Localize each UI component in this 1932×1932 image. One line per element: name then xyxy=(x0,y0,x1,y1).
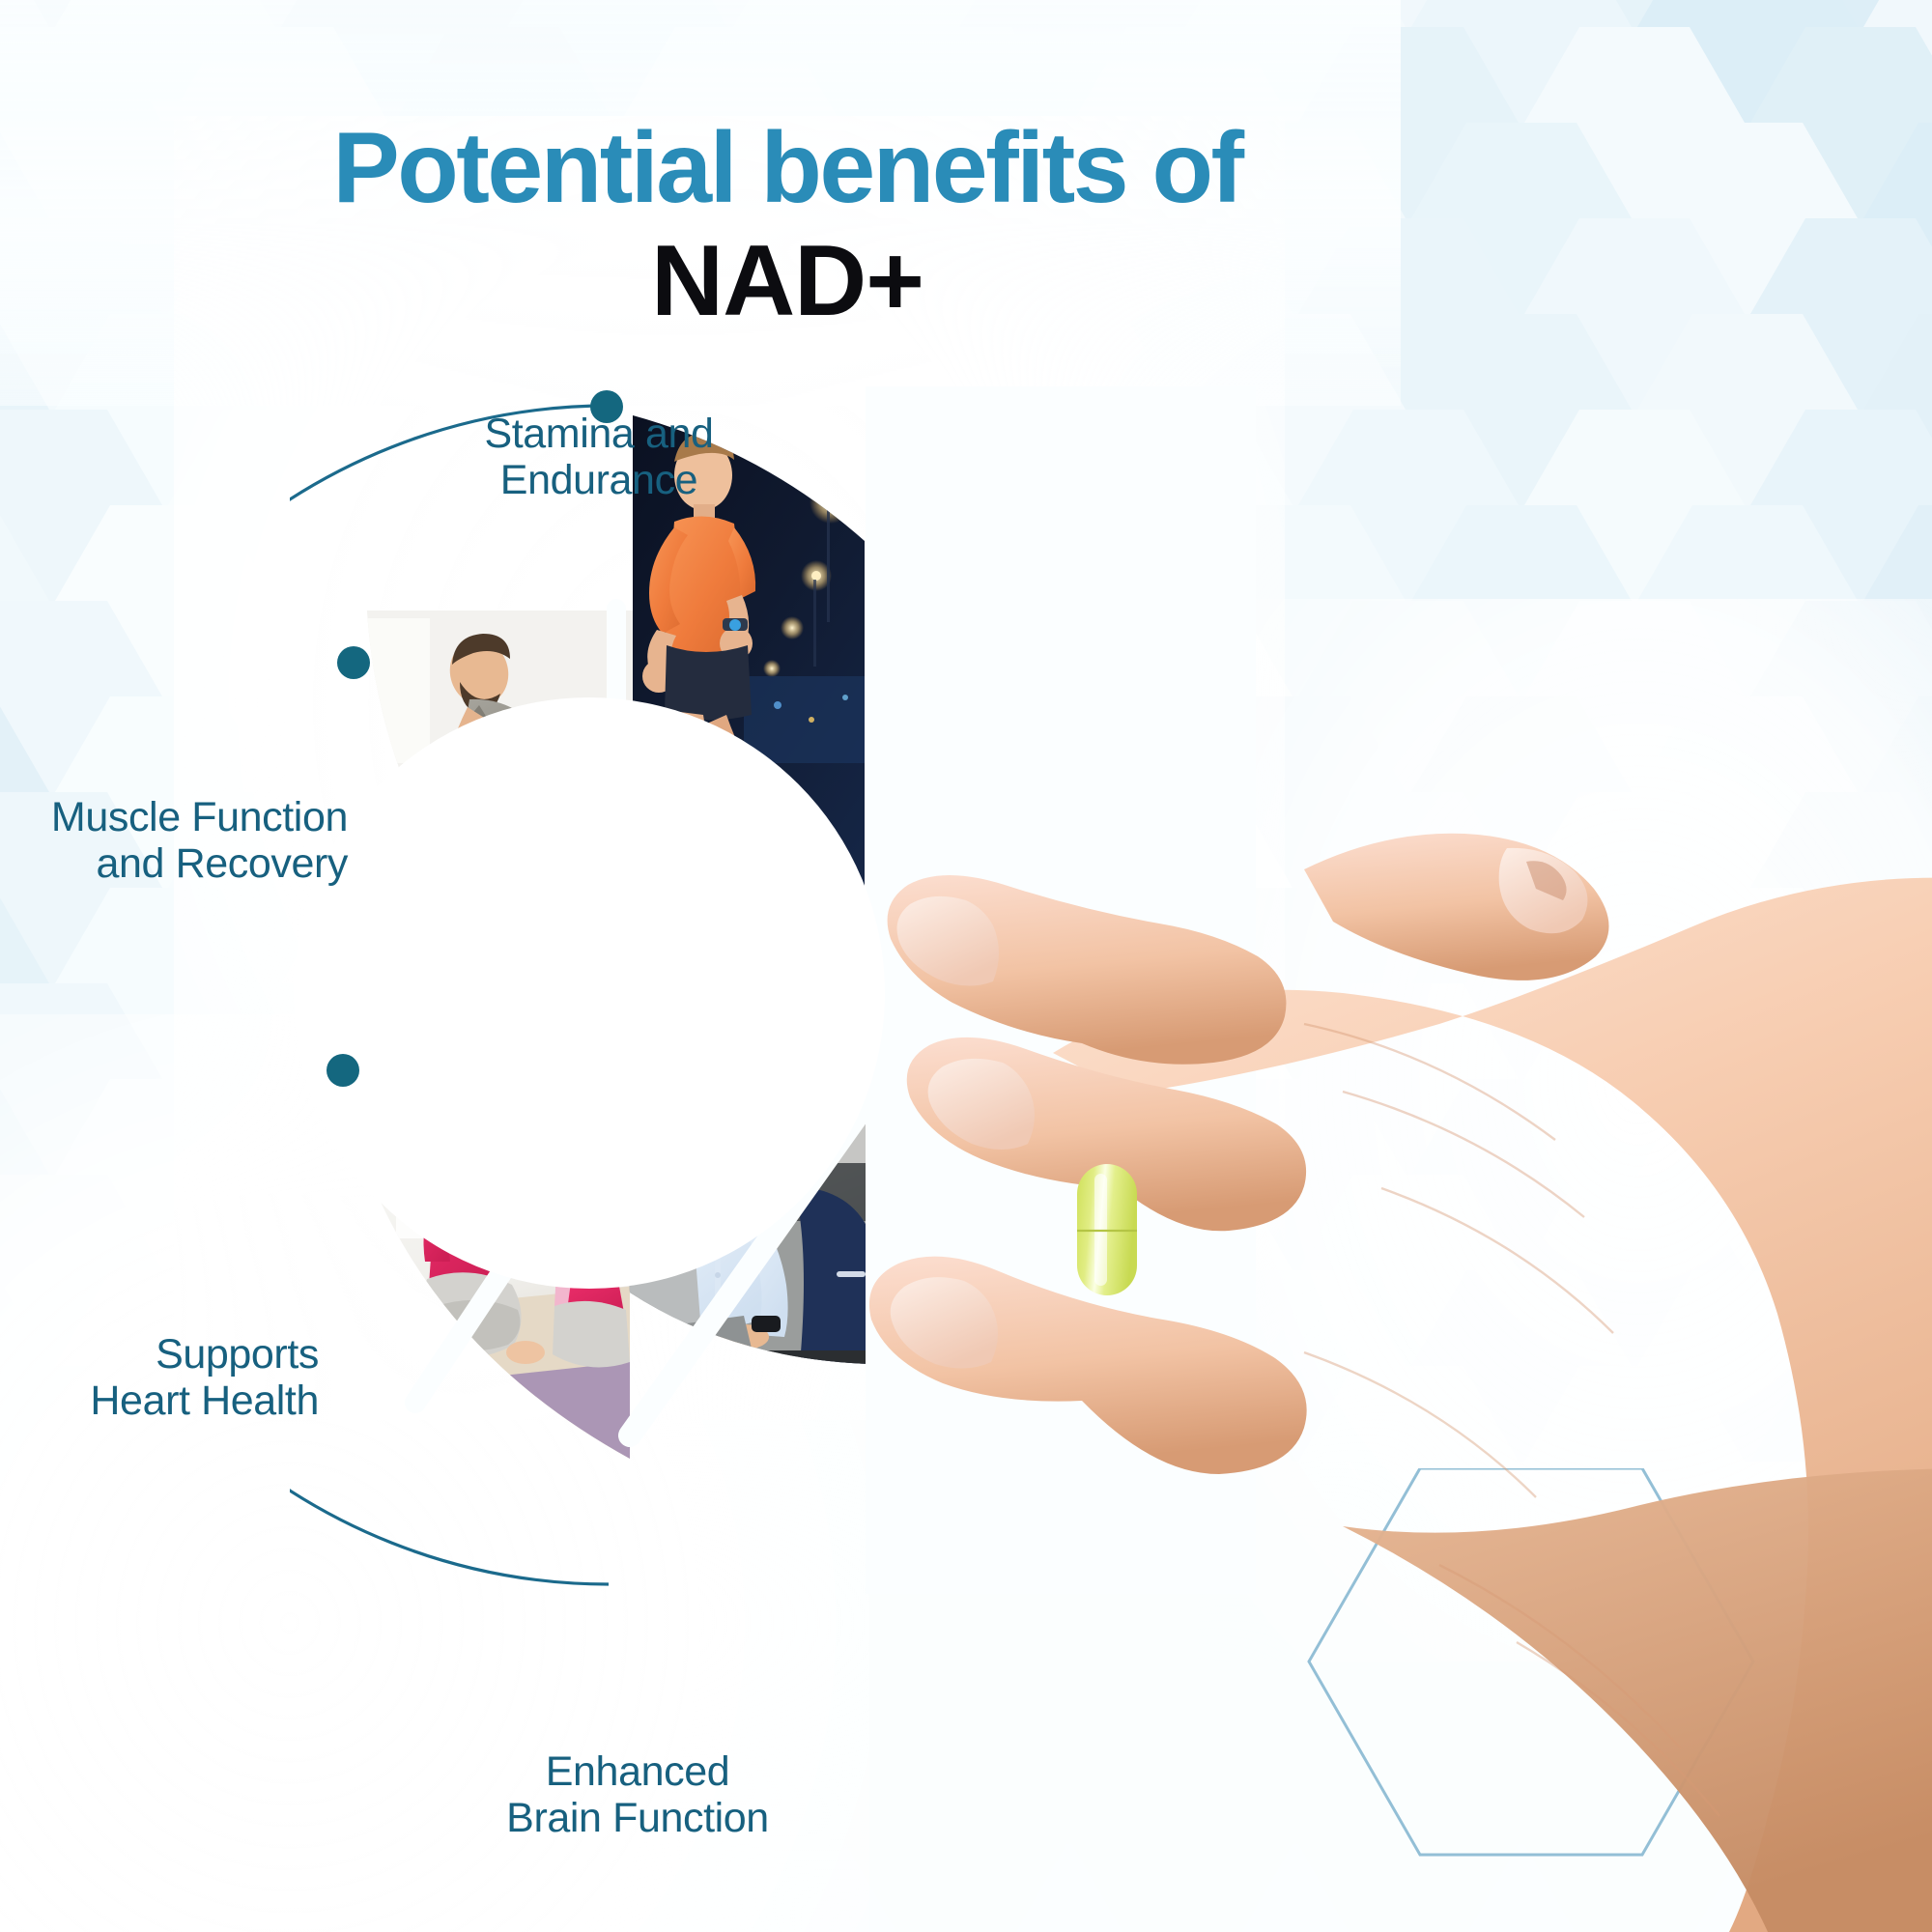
hand-wrist xyxy=(1343,1468,1932,1932)
page-title: Potential benefits of NAD+ xyxy=(0,118,1575,334)
benefit-label-brain: Enhanced Brain Function xyxy=(473,1748,802,1841)
title-line-1: Potential benefits of xyxy=(0,118,1575,218)
benefit-label-muscle: Muscle Function and Recovery xyxy=(29,794,348,887)
infographic-canvas: Potential benefits of NAD+ xyxy=(0,0,1932,1932)
hand-holding-pill xyxy=(763,734,1932,1932)
capsule-pill xyxy=(1077,1164,1137,1295)
index-guide xyxy=(782,736,1420,937)
node-dot-heart[interactable] xyxy=(327,1054,359,1087)
node-dot-muscle[interactable] xyxy=(337,646,370,679)
benefit-label-stamina: Stamina and Endurance xyxy=(440,411,758,503)
hand-svg xyxy=(763,734,1932,1932)
title-line-2: NAD+ xyxy=(0,228,1575,334)
benefit-label-heart: Supports Heart Health xyxy=(29,1331,319,1424)
